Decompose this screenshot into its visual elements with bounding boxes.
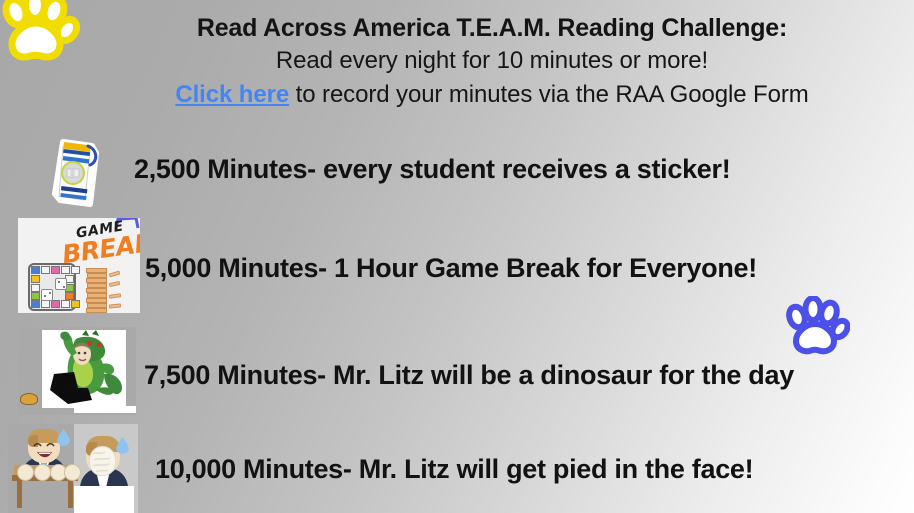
jenga-blocks-graphic — [86, 268, 118, 313]
challenge-subtitle: Read every night for 10 minutes or more! — [80, 44, 904, 78]
header-block: Read Across America T.E.A.M. Reading Cha… — [80, 12, 904, 113]
reading-challenge-slide: Read Across America T.E.A.M. Reading Cha… — [0, 0, 914, 513]
die-icon — [55, 278, 67, 290]
pie-in-the-face-image — [8, 424, 138, 513]
die-icon — [41, 289, 53, 301]
game-break-image: GAME BREAK — [18, 218, 140, 313]
cream-pie-icon — [64, 464, 81, 481]
google-form-line-rest: to record your minutes via the RAA Googl… — [289, 81, 809, 108]
reward-text-2500: 2,500 Minutes- every student receives a … — [134, 154, 730, 185]
click-here-link[interactable]: Click here — [175, 81, 289, 108]
paw-print-blue-icon — [784, 296, 850, 356]
reward-text-5000: 5,000 Minutes- 1 Hour Game Break for Eve… — [145, 253, 757, 284]
dinosaur-costume-image — [18, 327, 136, 415]
paw-print-yellow-icon — [0, 0, 80, 68]
water-bottle-sticker-image — [46, 138, 104, 210]
page-title: Read Across America T.E.A.M. Reading Cha… — [80, 12, 904, 44]
google-form-line: Click here to record your minutes via th… — [80, 78, 904, 113]
board-game-graphic — [28, 263, 76, 311]
cream-pie-icon — [34, 464, 51, 481]
cream-pie-icon — [17, 464, 34, 481]
dino-decoration — [20, 393, 38, 405]
dino-white-bar — [74, 406, 136, 413]
reward-text-7500: 7,500 Minutes- Mr. Litz will be a dinosa… — [144, 360, 794, 391]
reward-text-10000: 10,000 Minutes- Mr. Litz will get pied i… — [155, 454, 753, 485]
